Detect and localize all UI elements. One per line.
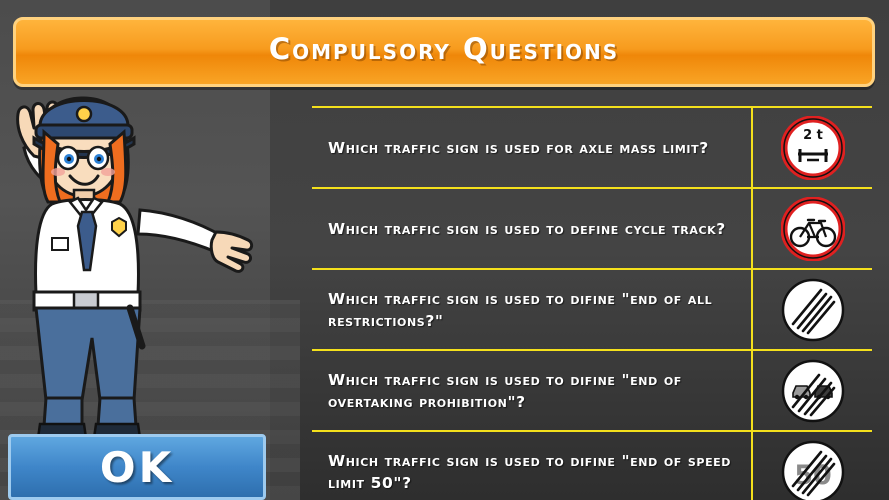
traffic-police-officer bbox=[0, 70, 262, 442]
question-sign-cell[interactable] bbox=[751, 189, 872, 268]
game-screen: Compulsory Questions bbox=[0, 0, 889, 500]
question-sign-cell[interactable]: 50 bbox=[751, 432, 872, 500]
question-text: Which traffic sign is used to define cyc… bbox=[312, 218, 751, 240]
question-text: Which traffic sign is used to difine "en… bbox=[312, 450, 751, 494]
end-of-overtaking-prohibition-sign bbox=[781, 359, 845, 423]
question-sign-cell[interactable] bbox=[751, 270, 872, 349]
ok-button[interactable]: OK bbox=[8, 434, 266, 500]
question-sign-cell[interactable]: 2 t bbox=[751, 108, 872, 187]
svg-text:2 t: 2 t bbox=[803, 128, 823, 143]
question-row[interactable]: Which traffic sign is used to difine "en… bbox=[312, 432, 872, 500]
question-text: Which traffic sign is used to difine "en… bbox=[312, 288, 751, 332]
end-of-all-restrictions-sign bbox=[781, 278, 845, 342]
question-sign-cell[interactable] bbox=[751, 351, 872, 430]
axle-mass-limit-sign: 2 t bbox=[781, 116, 845, 180]
question-row[interactable]: Which traffic sign is used to define cyc… bbox=[312, 189, 872, 270]
ok-button-label: OK bbox=[100, 443, 174, 492]
cycle-track-sign bbox=[781, 197, 845, 261]
question-list: Which traffic sign is used for axle mass… bbox=[312, 106, 872, 500]
question-row[interactable]: Which traffic sign is used for axle mass… bbox=[312, 108, 872, 189]
question-text: Which traffic sign is used for axle mass… bbox=[312, 137, 751, 159]
end-of-speed-limit-50-sign: 50 bbox=[781, 440, 845, 500]
question-row[interactable]: Which traffic sign is used to difine "en… bbox=[312, 270, 872, 351]
question-text: Which traffic sign is used to difine "en… bbox=[312, 369, 751, 413]
page-title: Compulsory Questions bbox=[16, 32, 872, 66]
question-row[interactable]: Which traffic sign is used to difine "en… bbox=[312, 351, 872, 432]
